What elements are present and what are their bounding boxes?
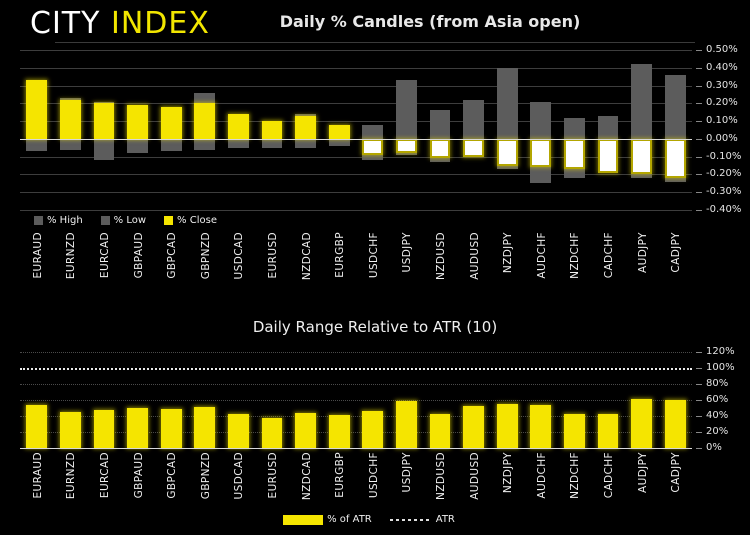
- candle-column: [262, 50, 283, 210]
- atr-bar: [329, 415, 350, 448]
- legend-item: ATR: [390, 514, 455, 525]
- y-tick-mark: [696, 400, 702, 401]
- atr-column: [295, 352, 316, 448]
- atr-bar: [26, 405, 47, 448]
- atr-column: [262, 352, 283, 448]
- atr-bar: [127, 408, 148, 448]
- legend-item: % Close: [164, 215, 217, 226]
- gridline: [20, 50, 692, 51]
- y-tick-label: 40%: [706, 410, 728, 421]
- y-tick-mark: [696, 174, 702, 175]
- y-tick-label: 20%: [706, 426, 728, 437]
- atr-column: [497, 352, 518, 448]
- atr-bar: [463, 406, 484, 448]
- x-tick-label: AUDCHF: [536, 232, 548, 279]
- x-tick-label: CADJPY: [670, 232, 682, 273]
- legend-swatch-icon: [390, 519, 432, 521]
- candle-column: [564, 50, 585, 210]
- y-tick-mark: [696, 68, 702, 69]
- atr-bar: [598, 414, 619, 448]
- y-tick-label: 0.20%: [706, 97, 738, 108]
- brand-word-index: INDEX: [111, 6, 210, 41]
- x-tick-label: EURUSD: [267, 232, 279, 278]
- brand-logo: CITY INDEX: [30, 6, 210, 41]
- y-tick-mark: [696, 157, 702, 158]
- legend-label: % Low: [114, 215, 146, 226]
- candle-column: [396, 50, 417, 210]
- y-tick-mark: [696, 103, 702, 104]
- x-tick-label: GBPAUD: [133, 232, 145, 278]
- gridline: [20, 121, 692, 122]
- candle-column: [497, 50, 518, 210]
- atr-bar: [631, 399, 652, 448]
- candle-column: [430, 50, 451, 210]
- atr-reference-line: [20, 368, 692, 370]
- atr-bar: [430, 414, 451, 448]
- y-tick-mark: [696, 210, 702, 211]
- close-bar: [598, 139, 619, 173]
- x-tick-label: AUDCHF: [536, 452, 548, 499]
- x-tick-label: CADJPY: [670, 452, 682, 493]
- x-tick-label: USDJPY: [401, 452, 413, 492]
- x-tick-label: AUDUSD: [469, 232, 481, 280]
- x-tick-label: NZDCHF: [569, 452, 581, 499]
- x-tick-label: AUDUSD: [469, 452, 481, 500]
- candle-column: [463, 50, 484, 210]
- y-tick-mark: [696, 416, 702, 417]
- atr-chart-xaxis: EURAUDEURNZDEURCADGBPAUDGBPCADGBPNZDUSDC…: [20, 452, 692, 514]
- close-bar: [228, 114, 249, 139]
- y-tick-label: -0.10%: [706, 151, 741, 162]
- x-tick-label: GBPCAD: [166, 232, 178, 279]
- gridline: [20, 192, 692, 193]
- atr-column: [463, 352, 484, 448]
- atr-bar: [60, 412, 81, 448]
- page-header: CITY INDEX Daily % Candles (from Asia op…: [0, 0, 750, 44]
- legend-swatch-icon: [283, 515, 323, 525]
- x-tick-label: EURCAD: [99, 452, 111, 498]
- y-tick-mark: [696, 139, 702, 140]
- candle-column: [329, 50, 350, 210]
- atr-bar: [396, 401, 417, 448]
- atr-bar: [665, 400, 686, 448]
- x-tick-label: NZDCAD: [301, 452, 313, 500]
- atr-column: [665, 352, 686, 448]
- y-tick-label: 0.30%: [706, 80, 738, 91]
- candle-column: [362, 50, 383, 210]
- y-tick-label: 60%: [706, 394, 728, 405]
- y-tick-label: 100%: [706, 362, 735, 373]
- legend-item: % of ATR: [283, 514, 372, 525]
- x-tick-label: USDCHF: [368, 452, 380, 498]
- x-tick-label: EURCAD: [99, 232, 111, 278]
- atr-column: [362, 352, 383, 448]
- legend-label: % High: [47, 215, 83, 226]
- atr-column: [161, 352, 182, 448]
- gridline: [20, 210, 692, 211]
- y-tick-label: 120%: [706, 346, 735, 357]
- y-tick-mark: [696, 384, 702, 385]
- x-tick-label: NZDUSD: [435, 232, 447, 280]
- x-tick-label: AUDJPY: [637, 452, 649, 493]
- atr-bar: [295, 413, 316, 448]
- x-tick-label: EURGBP: [334, 232, 346, 278]
- x-tick-label: NZDCHF: [569, 232, 581, 279]
- y-tick-label: -0.20%: [706, 168, 741, 179]
- zero-line: [20, 139, 692, 140]
- gridline: [20, 400, 692, 401]
- close-bar: [430, 139, 451, 159]
- legend-item: % Low: [101, 215, 146, 226]
- y-tick-label: 0.50%: [706, 44, 738, 55]
- legend-swatch-icon: [34, 216, 43, 225]
- x-tick-label: USDCHF: [368, 232, 380, 278]
- y-tick-mark: [696, 86, 702, 87]
- x-tick-label: CADCHF: [603, 232, 615, 278]
- close-bar: [362, 139, 383, 155]
- close-bar: [564, 139, 585, 169]
- atr-bar: [262, 418, 283, 448]
- baseline: [20, 448, 692, 449]
- y-tick-mark: [696, 352, 702, 353]
- atr-column: [127, 352, 148, 448]
- legend-label: % Close: [177, 215, 217, 226]
- y-tick-label: 0%: [706, 442, 722, 453]
- atr-chart-legend: % of ATRATR: [0, 514, 750, 525]
- header-divider: [55, 42, 695, 43]
- y-tick-label: -0.30%: [706, 186, 741, 197]
- x-tick-label: AUDJPY: [637, 232, 649, 273]
- atr-column: [228, 352, 249, 448]
- atr-column: [598, 352, 619, 448]
- close-bar: [396, 139, 417, 153]
- gridline: [20, 416, 692, 417]
- atr-column: [26, 352, 47, 448]
- atr-bar: [228, 414, 249, 448]
- atr-column: [564, 352, 585, 448]
- candles-chart-xaxis: EURAUDEURNZDEURCADGBPAUDGBPCADGBPNZDUSDC…: [20, 232, 692, 302]
- gridline: [20, 157, 692, 158]
- close-bar: [665, 139, 686, 178]
- y-tick-label: -0.40%: [706, 204, 741, 215]
- x-tick-label: EURNZD: [65, 452, 77, 499]
- atr-column: [94, 352, 115, 448]
- atr-bar: [530, 405, 551, 448]
- atr-bar: [362, 411, 383, 448]
- gridline: [20, 103, 692, 104]
- legend-swatch-icon: [101, 216, 110, 225]
- close-bar: [60, 100, 81, 139]
- y-tick-mark: [696, 192, 702, 193]
- x-tick-label: NZDJPY: [502, 452, 514, 493]
- x-tick-label: EURAUD: [32, 232, 44, 279]
- atr-column: [329, 352, 350, 448]
- candle-column: [228, 50, 249, 210]
- close-bar: [94, 103, 115, 139]
- y-tick-mark: [696, 448, 702, 449]
- x-tick-label: EURAUD: [32, 452, 44, 499]
- atr-column: [430, 352, 451, 448]
- y-tick-mark: [696, 432, 702, 433]
- x-tick-label: NZDUSD: [435, 452, 447, 500]
- gridline: [20, 174, 692, 175]
- atr-column: [530, 352, 551, 448]
- candle-column: [665, 50, 686, 210]
- close-bar: [497, 139, 518, 166]
- candle-column: [530, 50, 551, 210]
- legend-swatch-icon: [164, 216, 173, 225]
- candles-chart-plot: [20, 50, 692, 210]
- close-bar: [26, 80, 47, 139]
- atr-column: [194, 352, 215, 448]
- atr-bar: [564, 414, 585, 448]
- x-tick-label: GBPCAD: [166, 452, 178, 499]
- y-tick-label: 80%: [706, 378, 728, 389]
- x-tick-label: EURUSD: [267, 452, 279, 498]
- y-tick-label: 0.10%: [706, 115, 738, 126]
- atr-column: [631, 352, 652, 448]
- candle-column: [94, 50, 115, 210]
- atr-chart-plot: [20, 352, 692, 448]
- close-bar: [194, 103, 215, 139]
- x-tick-label: USDCAD: [233, 232, 245, 279]
- candles-chart-legend: % High% Low% Close: [34, 215, 229, 226]
- close-bar: [295, 116, 316, 139]
- close-bar: [631, 139, 652, 175]
- candle-column: [598, 50, 619, 210]
- legend-label: % of ATR: [327, 514, 372, 525]
- x-tick-label: NZDCAD: [301, 232, 313, 280]
- y-tick-mark: [696, 368, 702, 369]
- candle-column: [161, 50, 182, 210]
- x-tick-label: EURNZD: [65, 232, 77, 279]
- legend-item: % High: [34, 215, 83, 226]
- atr-bar: [161, 409, 182, 448]
- y-tick-mark: [696, 50, 702, 51]
- close-bar: [329, 125, 350, 139]
- gridline: [20, 68, 692, 69]
- candle-column: [127, 50, 148, 210]
- candle-column: [194, 50, 215, 210]
- candle-column: [60, 50, 81, 210]
- x-tick-label: NZDJPY: [502, 232, 514, 273]
- close-bar: [161, 107, 182, 139]
- atr-bar: [497, 404, 518, 448]
- candle-column: [631, 50, 652, 210]
- gridline: [20, 352, 692, 353]
- y-tick-label: 0.40%: [706, 62, 738, 73]
- gridline: [20, 432, 692, 433]
- gridline: [20, 384, 692, 385]
- x-tick-label: USDJPY: [401, 232, 413, 272]
- gridline: [20, 86, 692, 87]
- atr-column: [60, 352, 81, 448]
- close-bar: [127, 105, 148, 139]
- legend-label: ATR: [436, 514, 455, 525]
- close-bar: [530, 139, 551, 167]
- x-tick-label: USDCAD: [233, 452, 245, 499]
- chart-title-bottom: Daily Range Relative to ATR (10): [175, 318, 575, 336]
- atr-bar: [194, 407, 215, 448]
- x-tick-label: EURGBP: [334, 452, 346, 498]
- close-bar: [463, 139, 484, 157]
- chart-title-top: Daily % Candles (from Asia open): [230, 12, 630, 31]
- y-tick-label: 0.00%: [706, 133, 738, 144]
- y-tick-mark: [696, 121, 702, 122]
- x-tick-label: GBPNZD: [200, 232, 212, 279]
- x-tick-label: GBPAUD: [133, 452, 145, 498]
- x-tick-label: GBPNZD: [200, 452, 212, 499]
- close-bar: [262, 121, 283, 139]
- brand-word-city: CITY: [30, 6, 100, 41]
- x-tick-label: CADCHF: [603, 452, 615, 498]
- candle-column: [295, 50, 316, 210]
- candle-column: [26, 50, 47, 210]
- atr-bar: [94, 410, 115, 448]
- atr-column: [396, 352, 417, 448]
